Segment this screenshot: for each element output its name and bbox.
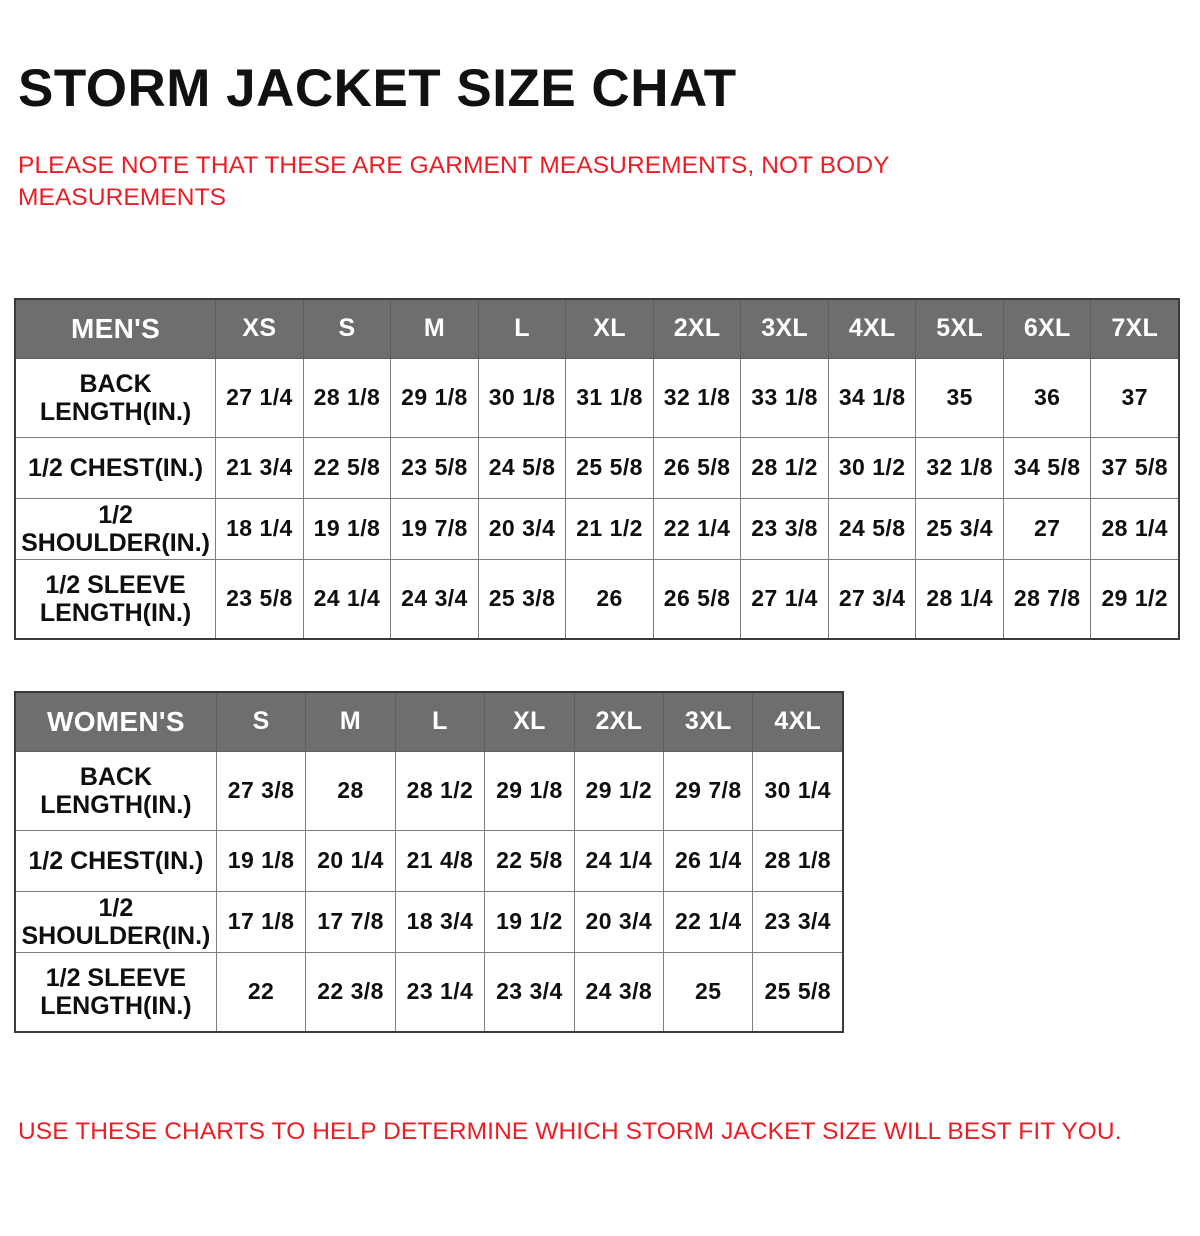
column-header-5xl: 5XL — [916, 299, 1004, 359]
womens-header-row: WOMEN'SSMLXL2XL3XL4XL — [15, 692, 843, 752]
cell-back-length-in-2xl: 291/2 — [574, 751, 663, 830]
column-header-s: S — [216, 692, 305, 752]
row-header-1-2-sleeve-length-in: 1/2 SLEEVELENGTH(IN.) — [15, 952, 216, 1032]
cell-1-2-sleeve-length-in-xl: 233/4 — [485, 952, 574, 1032]
cell-back-length-in-7xl: 37 — [1091, 358, 1179, 437]
cell-back-length-in-m: 28 — [306, 751, 395, 830]
cell-1-2-sleeve-length-in-s: 22 — [216, 952, 305, 1032]
cell-1-2-shoulder-in-3xl: 233/8 — [741, 498, 829, 559]
cell-back-length-in-m: 291/8 — [391, 358, 479, 437]
table-corner-header-men-s: MEN'S — [15, 299, 216, 359]
column-header-4xl: 4XL — [828, 299, 916, 359]
cell-1-2-sleeve-length-in-5xl: 281/4 — [916, 559, 1004, 639]
cell-1-2-shoulder-in-6xl: 27 — [1003, 498, 1091, 559]
cell-1-2-chest-in-4xl: 301/2 — [828, 437, 916, 498]
cell-1-2-shoulder-in-2xl: 203/4 — [574, 891, 663, 952]
cell-1-2-shoulder-in-l: 203/4 — [478, 498, 566, 559]
cell-1-2-sleeve-length-in-2xl: 243/8 — [574, 952, 663, 1032]
table-row: 1/2 SLEEVELENGTH(IN.)22223/8231/4233/424… — [15, 952, 843, 1032]
row-header-1-2-chest-in: 1/2 CHEST(IN.) — [15, 437, 216, 498]
cell-1-2-shoulder-in-4xl: 245/8 — [828, 498, 916, 559]
cell-1-2-chest-in-4xl: 281/8 — [753, 830, 843, 891]
column-header-m: M — [391, 299, 479, 359]
mens-table-header: MEN'SXSSMLXL2XL3XL4XL5XL6XL7XL — [15, 299, 1179, 359]
cell-1-2-chest-in-l: 245/8 — [478, 437, 566, 498]
cell-1-2-chest-in-xl: 255/8 — [566, 437, 654, 498]
table-row: 1/2 CHEST(IN.)191/8201/4214/8225/8241/42… — [15, 830, 843, 891]
cell-1-2-chest-in-m: 201/4 — [306, 830, 395, 891]
garment-measurement-note: PLEASE NOTE THAT THESE ARE GARMENT MEASU… — [14, 150, 978, 215]
cell-1-2-shoulder-in-xl: 211/2 — [566, 498, 654, 559]
cell-1-2-shoulder-in-xl: 191/2 — [485, 891, 574, 952]
column-header-7xl: 7XL — [1091, 299, 1179, 359]
cell-1-2-sleeve-length-in-4xl: 273/4 — [828, 559, 916, 639]
cell-1-2-sleeve-length-in-s: 241/4 — [303, 559, 391, 639]
cell-1-2-chest-in-7xl: 375/8 — [1091, 437, 1179, 498]
column-header-xl: XL — [485, 692, 574, 752]
page-title: STORM JACKET SIZE CHAT — [14, 36, 1186, 115]
cell-1-2-shoulder-in-5xl: 253/4 — [916, 498, 1004, 559]
cell-1-2-sleeve-length-in-3xl: 271/4 — [741, 559, 829, 639]
table-row: 1/2 SHOULDER(IN.)171/8177/8183/4191/2203… — [15, 891, 843, 952]
cell-1-2-shoulder-in-s: 191/8 — [303, 498, 391, 559]
womens-size-table: WOMEN'SSMLXL2XL3XL4XL BACKLENGTH(IN.)273… — [14, 691, 844, 1033]
cell-1-2-chest-in-3xl: 281/2 — [741, 437, 829, 498]
cell-1-2-sleeve-length-in-xs: 235/8 — [216, 559, 304, 639]
cell-1-2-chest-in-s: 191/8 — [216, 830, 305, 891]
cell-back-length-in-s: 273/8 — [216, 751, 305, 830]
mens-size-table: MEN'SXSSMLXL2XL3XL4XL5XL6XL7XL BACKLENGT… — [14, 298, 1180, 640]
mens-table-body: BACKLENGTH(IN.)271/4281/8291/8301/8311/8… — [15, 358, 1179, 639]
cell-back-length-in-s: 281/8 — [303, 358, 391, 437]
cell-back-length-in-xl: 291/8 — [485, 751, 574, 830]
cell-back-length-in-5xl: 35 — [916, 358, 1004, 437]
row-header-1-2-shoulder-in: 1/2 SHOULDER(IN.) — [15, 891, 216, 952]
table-row: BACKLENGTH(IN.)271/4281/8291/8301/8311/8… — [15, 358, 1179, 437]
row-header-1-2-chest-in: 1/2 CHEST(IN.) — [15, 830, 216, 891]
cell-1-2-shoulder-in-s: 171/8 — [216, 891, 305, 952]
womens-table-body: BACKLENGTH(IN.)273/828281/2291/8291/2297… — [15, 751, 843, 1032]
column-header-6xl: 6XL — [1003, 299, 1091, 359]
cell-1-2-chest-in-2xl: 241/4 — [574, 830, 663, 891]
cell-1-2-chest-in-s: 225/8 — [303, 437, 391, 498]
cell-1-2-sleeve-length-in-l: 231/4 — [395, 952, 484, 1032]
cell-back-length-in-3xl: 331/8 — [741, 358, 829, 437]
cell-1-2-sleeve-length-in-2xl: 265/8 — [653, 559, 741, 639]
size-chart-page: STORM JACKET SIZE CHAT PLEASE NOTE THAT … — [0, 36, 1200, 1236]
cell-1-2-shoulder-in-xs: 181/4 — [216, 498, 304, 559]
cell-1-2-sleeve-length-in-l: 253/8 — [478, 559, 566, 639]
cell-back-length-in-3xl: 297/8 — [664, 751, 753, 830]
column-header-3xl: 3XL — [741, 299, 829, 359]
cell-1-2-shoulder-in-3xl: 221/4 — [664, 891, 753, 952]
cell-1-2-chest-in-6xl: 345/8 — [1003, 437, 1091, 498]
column-header-l: L — [395, 692, 484, 752]
column-header-2xl: 2XL — [653, 299, 741, 359]
cell-1-2-chest-in-xs: 213/4 — [216, 437, 304, 498]
cell-back-length-in-xl: 311/8 — [566, 358, 654, 437]
usage-instruction-note: USE THESE CHARTS TO HELP DETERMINE WHICH… — [18, 1116, 1122, 1148]
cell-1-2-shoulder-in-7xl: 281/4 — [1091, 498, 1179, 559]
cell-1-2-sleeve-length-in-3xl: 25 — [664, 952, 753, 1032]
column-header-3xl: 3XL — [664, 692, 753, 752]
table-corner-header-women-s: WOMEN'S — [15, 692, 216, 752]
table-row: 1/2 SHOULDER(IN.)181/4191/8197/8203/4211… — [15, 498, 1179, 559]
cell-back-length-in-6xl: 36 — [1003, 358, 1091, 437]
cell-1-2-sleeve-length-in-7xl: 291/2 — [1091, 559, 1179, 639]
row-header-1-2-shoulder-in: 1/2 SHOULDER(IN.) — [15, 498, 216, 559]
cell-1-2-sleeve-length-in-6xl: 287/8 — [1003, 559, 1091, 639]
cell-back-length-in-l: 281/2 — [395, 751, 484, 830]
cell-1-2-chest-in-3xl: 261/4 — [664, 830, 753, 891]
womens-table-header: WOMEN'SSMLXL2XL3XL4XL — [15, 692, 843, 752]
cell-1-2-chest-in-m: 235/8 — [391, 437, 479, 498]
column-header-l: L — [478, 299, 566, 359]
row-header-back-length-in: BACKLENGTH(IN.) — [15, 358, 216, 437]
cell-back-length-in-l: 301/8 — [478, 358, 566, 437]
column-header-xl: XL — [566, 299, 654, 359]
row-header-back-length-in: BACKLENGTH(IN.) — [15, 751, 216, 830]
column-header-m: M — [306, 692, 395, 752]
cell-1-2-chest-in-xl: 225/8 — [485, 830, 574, 891]
cell-back-length-in-4xl: 301/4 — [753, 751, 843, 830]
cell-1-2-chest-in-l: 214/8 — [395, 830, 484, 891]
column-header-xs: XS — [216, 299, 304, 359]
column-header-s: S — [303, 299, 391, 359]
cell-1-2-shoulder-in-m: 197/8 — [391, 498, 479, 559]
cell-1-2-chest-in-5xl: 321/8 — [916, 437, 1004, 498]
mens-header-row: MEN'SXSSMLXL2XL3XL4XL5XL6XL7XL — [15, 299, 1179, 359]
cell-back-length-in-4xl: 341/8 — [828, 358, 916, 437]
cell-1-2-shoulder-in-4xl: 233/4 — [753, 891, 843, 952]
cell-1-2-sleeve-length-in-4xl: 255/8 — [753, 952, 843, 1032]
cell-1-2-sleeve-length-in-xl: 26 — [566, 559, 654, 639]
table-row: BACKLENGTH(IN.)273/828281/2291/8291/2297… — [15, 751, 843, 830]
cell-back-length-in-xs: 271/4 — [216, 358, 304, 437]
table-row: 1/2 CHEST(IN.)213/4225/8235/8245/8255/82… — [15, 437, 1179, 498]
cell-1-2-sleeve-length-in-m: 223/8 — [306, 952, 395, 1032]
row-header-1-2-sleeve-length-in: 1/2 SLEEVELENGTH(IN.) — [15, 559, 216, 639]
cell-1-2-shoulder-in-2xl: 221/4 — [653, 498, 741, 559]
cell-1-2-chest-in-2xl: 265/8 — [653, 437, 741, 498]
cell-back-length-in-2xl: 321/8 — [653, 358, 741, 437]
column-header-4xl: 4XL — [753, 692, 843, 752]
cell-1-2-shoulder-in-m: 177/8 — [306, 891, 395, 952]
column-header-2xl: 2XL — [574, 692, 663, 752]
cell-1-2-sleeve-length-in-m: 243/4 — [391, 559, 479, 639]
cell-1-2-shoulder-in-l: 183/4 — [395, 891, 484, 952]
table-row: 1/2 SLEEVELENGTH(IN.)235/8241/4243/4253/… — [15, 559, 1179, 639]
